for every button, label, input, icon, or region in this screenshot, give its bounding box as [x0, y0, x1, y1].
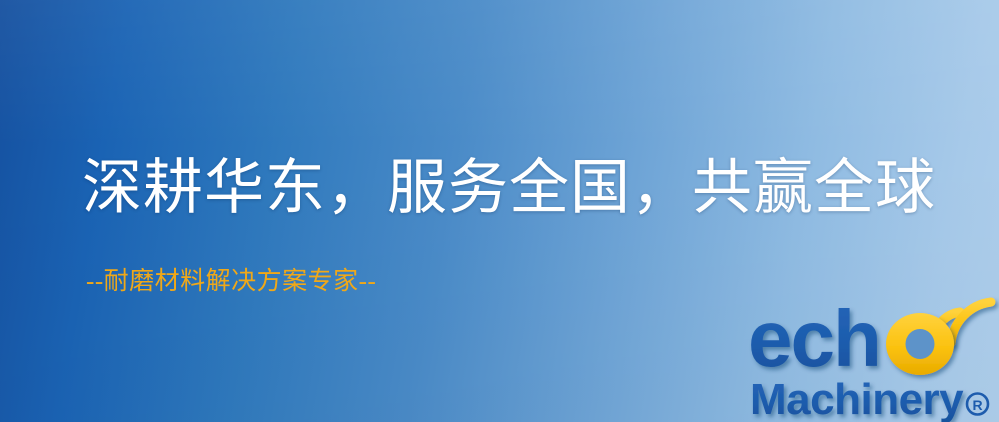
logo-text-o	[886, 313, 954, 375]
logo-text-ech: ech	[748, 296, 880, 383]
svg-text:Machinery: Machinery	[750, 375, 964, 422]
banner-subtitle: --耐磨材料解决方案专家--	[86, 266, 376, 298]
banner-headline: 深耕华东，服务全国，共赢全球	[82, 152, 936, 224]
svg-text:R: R	[972, 397, 982, 413]
svg-text:ech: ech	[748, 296, 880, 383]
hero-banner: 深耕华东，服务全国，共赢全球 --耐磨材料解决方案专家--	[0, 0, 999, 422]
logo-artwork: ech Machinery R	[748, 296, 999, 422]
logo-text-machinery: Machinery	[750, 375, 964, 422]
registered-trademark-icon: R	[967, 394, 988, 415]
echo-machinery-logo[interactable]: ech Machinery R	[748, 296, 999, 422]
